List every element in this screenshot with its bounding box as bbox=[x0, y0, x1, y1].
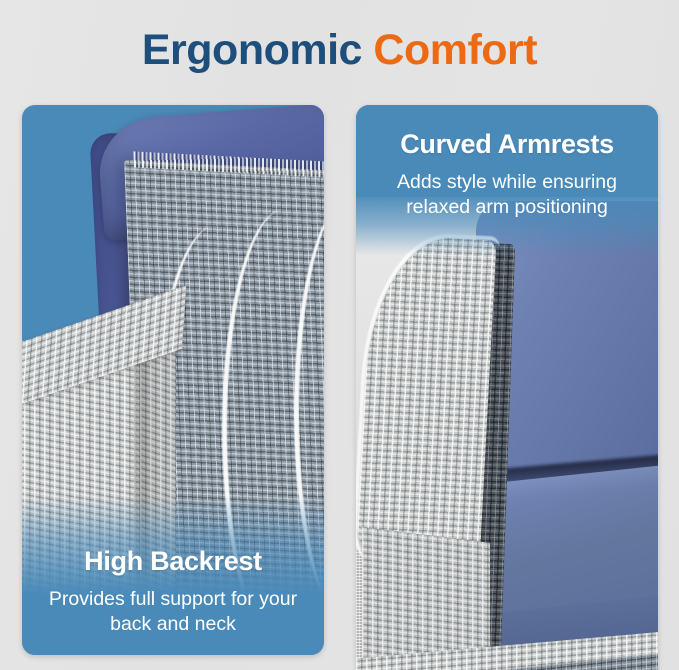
page-title-accent: Comfort bbox=[373, 26, 537, 74]
feature-panel-curved-armrests: Curved Armrests Adds style while ensurin… bbox=[356, 105, 658, 670]
page-title: Ergonomic Comfort bbox=[0, 24, 679, 76]
caption-gradient-overlay bbox=[22, 495, 324, 655]
infographic-canvas: Ergonomic Comfort High Backrest Provides… bbox=[0, 0, 679, 670]
photo-curved-armrests bbox=[356, 105, 658, 670]
page-title-space bbox=[362, 26, 373, 74]
feature-panel-high-backrest: High Backrest Provides full support for … bbox=[22, 105, 324, 655]
page-title-primary: Ergonomic bbox=[142, 26, 362, 74]
photo-high-backrest bbox=[22, 105, 324, 655]
caption-gradient-overlay bbox=[356, 105, 658, 255]
